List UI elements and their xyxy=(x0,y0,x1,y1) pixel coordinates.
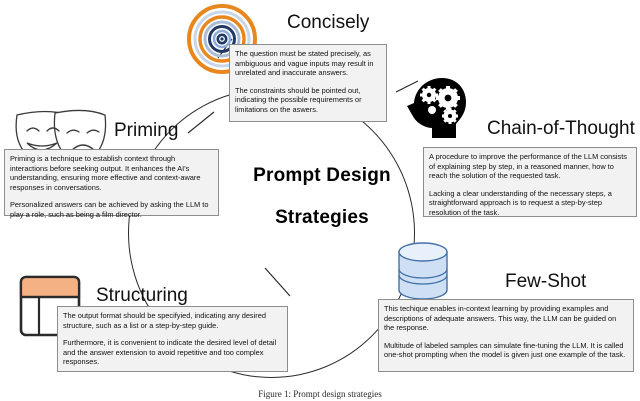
node-title-few-shot: Few-Shot xyxy=(505,271,586,293)
priming-paragraph-1: Priming is a technique to establish cont… xyxy=(10,154,213,192)
cot-paragraph-2: Lacking a clear understanding of the nec… xyxy=(429,189,631,218)
center-title-line-2: Strategies xyxy=(232,197,412,239)
structuring-paragraph-2: Furthermore, it is convenient to indicat… xyxy=(63,338,282,367)
center-title-line-1: Prompt Design xyxy=(232,155,412,197)
priming-paragraph-2: Personalized answers can be achieved by … xyxy=(10,200,213,219)
concisely-paragraph-2: The constraints should be pointed out, i… xyxy=(235,86,381,115)
textbox-priming: Priming is a technique to establish cont… xyxy=(4,149,219,216)
node-title-chain-of-thought: Chain-of-Thought xyxy=(487,118,635,140)
database-cylinder-icon xyxy=(395,243,451,299)
figure-center-title: Prompt Design Strategies xyxy=(232,155,412,239)
textbox-few-shot: This techique enables in-context learnin… xyxy=(378,299,634,372)
textbox-structuring: The output format should be specifyied, … xyxy=(57,306,288,372)
cot-paragraph-1: A procedure to improve the performance o… xyxy=(429,152,631,181)
concisely-paragraph-1: The question must be stated precisely, a… xyxy=(235,49,381,78)
node-title-priming: Priming xyxy=(114,120,178,142)
textbox-concisely: The question must be stated precisely, a… xyxy=(229,44,387,122)
node-title-concisely: Concisely xyxy=(287,12,369,34)
structuring-paragraph-1: The output format should be specifyied, … xyxy=(63,311,282,330)
fewshot-paragraph-1: This techique enables in-context learnin… xyxy=(384,304,628,333)
figure-canvas: Concisely The question must be stated pr… xyxy=(0,0,640,401)
textbox-chain-of-thought: A procedure to improve the performance o… xyxy=(423,147,637,217)
head-with-gears-icon xyxy=(404,76,470,142)
node-title-structuring: Structuring xyxy=(96,285,188,307)
figure-caption: Figure 1: Prompt design strategies xyxy=(0,389,640,401)
fewshot-paragraph-2: Multitude of labeled samples can simulat… xyxy=(384,341,628,360)
